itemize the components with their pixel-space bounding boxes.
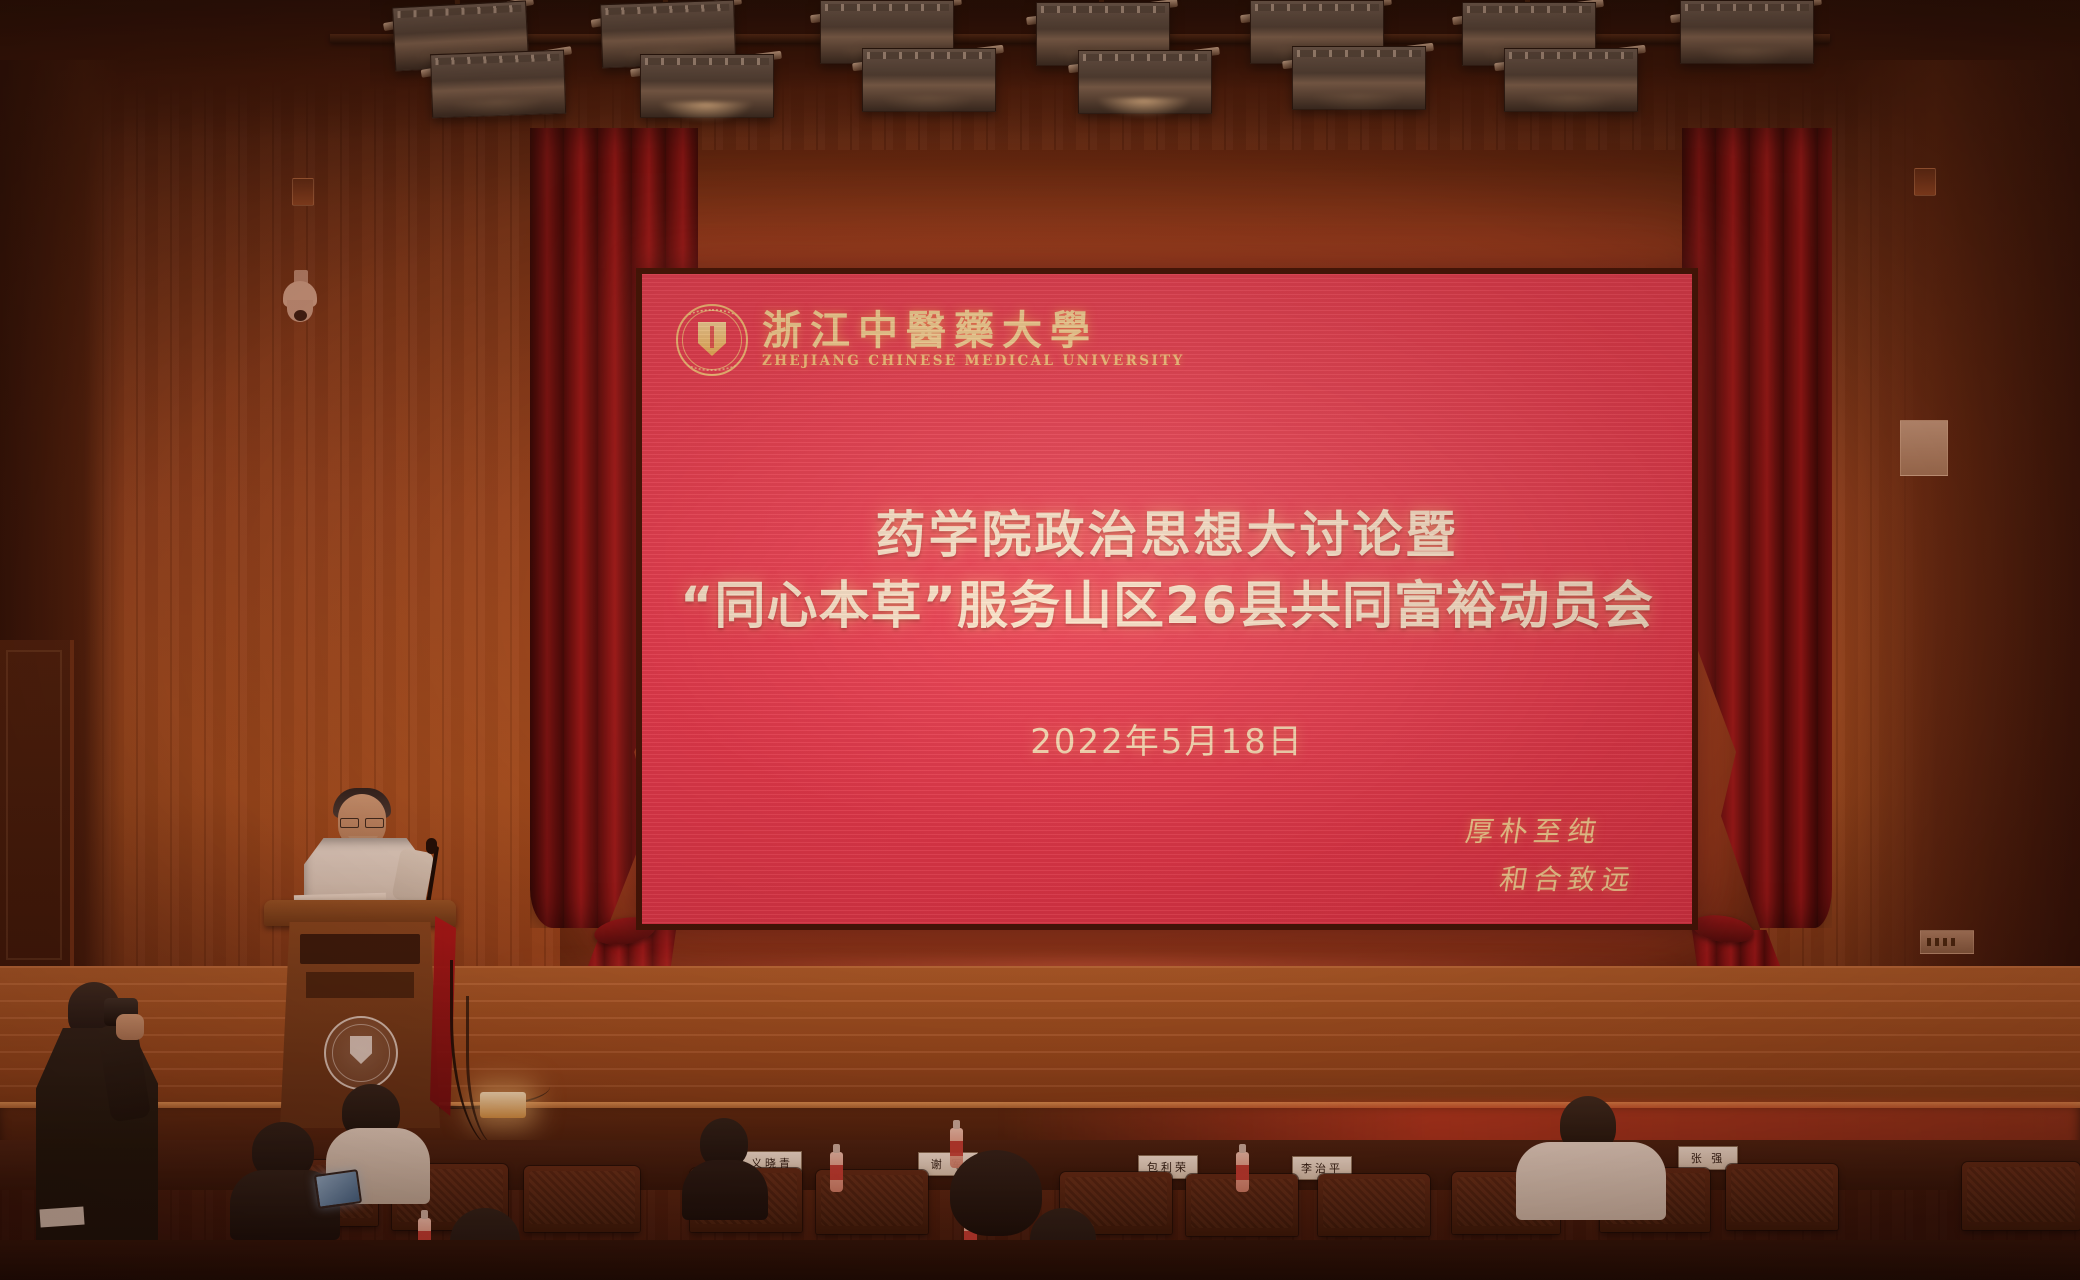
wall-vent-panel	[1920, 930, 1974, 954]
stage-light-par-13	[1680, 0, 1812, 74]
seat	[1318, 1174, 1430, 1236]
ptz-camera-icon	[283, 270, 317, 326]
wall-panel-right	[1900, 420, 1948, 476]
event-title-line-2: “同心本草”服务山区26县共同富裕动员会	[642, 571, 1692, 643]
stage-light-par-10	[1292, 46, 1424, 120]
stage-light-par-12	[1504, 48, 1636, 122]
seat	[1726, 1164, 1838, 1230]
seat	[524, 1166, 640, 1232]
tablet-device	[314, 1169, 362, 1209]
wall-plate-right	[1914, 168, 1936, 196]
motto-line-2: 和合致远	[1497, 858, 1639, 898]
stage-light-par-2	[430, 50, 565, 129]
stage-light-par-8	[1078, 50, 1210, 124]
water-bottle	[1236, 1152, 1249, 1192]
led-screen-content: 浙江中醫藥大學 ZHEJIANG CHINESE MEDICAL UNIVERS…	[642, 274, 1692, 924]
water-bottle	[830, 1152, 843, 1192]
seat	[1962, 1162, 2080, 1230]
wall-plate-left	[292, 178, 314, 206]
auditorium-photo: 浙江中醫藥大學 ZHEJIANG CHINESE MEDICAL UNIVERS…	[0, 0, 2080, 1280]
side-door	[0, 640, 74, 970]
motto-line-1: 厚朴至纯	[1463, 810, 1639, 850]
university-name-cn: 浙江中醫藥大學	[762, 311, 1185, 351]
event-title-line-1: 药学院政治思想大讨论暨	[642, 500, 1692, 571]
aisle-floor	[0, 1240, 2080, 1280]
university-motto: 厚朴至纯 和合致远	[1466, 810, 1636, 898]
event-title-block: 药学院政治思想大讨论暨 “同心本草”服务山区26县共同富裕动员会	[642, 500, 1692, 643]
glasses-icon	[340, 818, 384, 826]
vent-slats	[1927, 938, 1955, 946]
led-screen: 浙江中醫藥大學 ZHEJIANG CHINESE MEDICAL UNIVERS…	[636, 268, 1698, 930]
university-name-en: ZHEJIANG CHINESE MEDICAL UNIVERSITY	[762, 353, 1185, 369]
stage-light-par-6	[862, 48, 994, 122]
water-bottle	[950, 1128, 963, 1168]
photographer-person	[28, 972, 168, 1280]
stage-light-par-4	[640, 54, 772, 128]
university-seal-icon	[676, 304, 748, 376]
university-lockup: 浙江中醫藥大學 ZHEJIANG CHINESE MEDICAL UNIVERS…	[676, 304, 1185, 376]
event-date: 2022年5月18日	[642, 714, 1692, 763]
lectern-seal-icon	[324, 1016, 398, 1090]
microphone-icon	[426, 838, 437, 854]
